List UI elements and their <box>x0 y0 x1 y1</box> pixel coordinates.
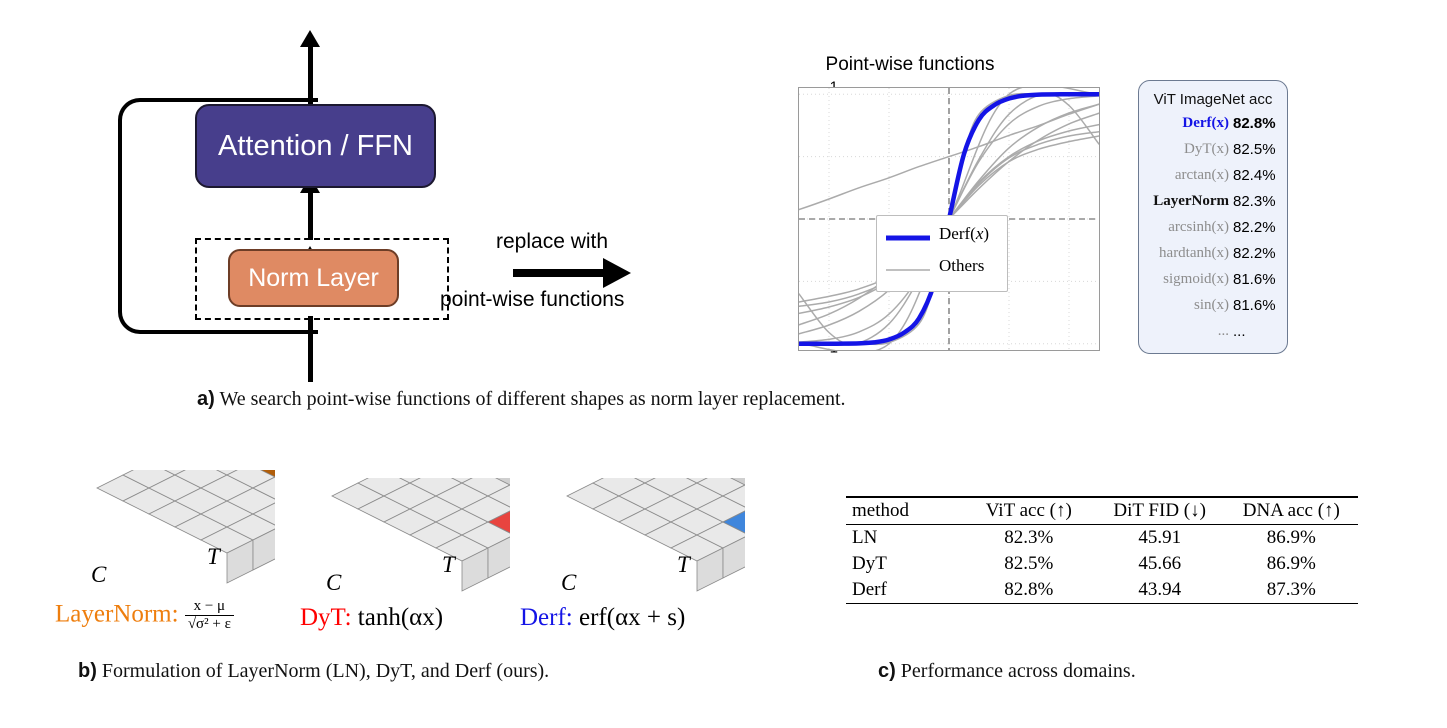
legend-label-derf: Derf(x) <box>939 224 989 244</box>
formula-dyt-body: tanh(αx) <box>358 604 443 631</box>
vit-accuracy-row-name: sin(x) <box>1145 297 1229 314</box>
vit-accuracy-row-value: 82.3% <box>1233 193 1285 210</box>
vit-accuracy-row-value: 82.5% <box>1233 141 1285 158</box>
replace-arrow-shaft <box>513 269 607 277</box>
formula-derf-name: Derf: <box>520 604 573 631</box>
vit-accuracy-row-value: 82.2% <box>1233 219 1285 236</box>
table-header-row: method ViT acc (↑) DiT FID (↓) DNA acc (… <box>846 497 1358 525</box>
table-cell-method: LN <box>846 525 963 552</box>
replace-with-top-label: replace with <box>496 230 608 254</box>
performance-table: method ViT acc (↑) DiT FID (↓) DNA acc (… <box>846 496 1358 604</box>
table-cell-dit: 43.94 <box>1095 577 1225 604</box>
formula-dyt-name: DyT: <box>300 604 352 631</box>
replace-with-bottom-label: point-wise functions <box>440 288 624 312</box>
cuboid-dyt: CT <box>280 478 510 608</box>
vit-accuracy-row: DyT(x)82.5% <box>1139 141 1287 166</box>
attention-ffn-label: Attention / FFN <box>218 130 413 163</box>
vit-accuracy-row-name: arcsinh(x) <box>1145 219 1229 236</box>
caption-b-tag: b) <box>78 660 97 682</box>
vit-accuracy-row: ...... <box>1139 323 1287 348</box>
norm-layer-block[interactable]: Norm Layer <box>228 249 399 307</box>
caption-a-tag: a) <box>197 388 215 410</box>
caption-a-text: We search point-wise functions of differ… <box>219 388 845 410</box>
formula-derf: Derf: erf(αx + s) <box>520 604 685 632</box>
pointwise-functions-plot: Point-wise functions 1 0.5 0 -0.5 -1 -2 … <box>710 54 1140 374</box>
caption-b: b) Formulation of LayerNorm (LN), DyT, a… <box>78 660 549 683</box>
table-cell-dit: 45.91 <box>1095 525 1225 552</box>
plot-legend: Derf(x) Others <box>876 215 1008 292</box>
col-header-method: method <box>846 497 963 525</box>
vit-accuracy-row-name: LayerNorm <box>1145 193 1229 210</box>
table-cell-vit: 82.5% <box>963 551 1095 577</box>
replace-arrowhead-icon <box>603 258 631 288</box>
vit-accuracy-card: ViT ImageNet acc Derf(x)82.8%DyT(x)82.5%… <box>1138 80 1288 354</box>
vit-accuracy-row-value: 81.6% <box>1233 297 1285 314</box>
output-arrow-shaft <box>308 42 313 104</box>
formula-dyt: DyT: tanh(αx) <box>300 604 443 632</box>
legend-label-others: Others <box>939 256 984 276</box>
cuboid-derf: CT <box>515 478 745 608</box>
norm-layer-label: Norm Layer <box>248 264 379 293</box>
vit-accuracy-row-name: hardtanh(x) <box>1145 245 1229 262</box>
table-cell-method: DyT <box>846 551 963 577</box>
caption-a: a) We search point-wise functions of dif… <box>197 388 846 411</box>
cuboid-diagrams: CT CT CT LayerNorm: x − μ √σ² + ε DyT: t… <box>0 460 720 690</box>
vit-accuracy-row: arctan(x)82.4% <box>1139 167 1287 192</box>
table-row: Derf82.8%43.9487.3% <box>846 577 1358 604</box>
caption-c-text: Performance across domains. <box>901 660 1136 682</box>
caption-c-tag: c) <box>878 660 896 682</box>
col-header-dit: DiT FID (↓) <box>1095 497 1225 525</box>
table-cell-dit: 45.66 <box>1095 551 1225 577</box>
cuboid-dim-label-t: T <box>207 544 220 570</box>
cuboid-layernorm: CT <box>45 470 275 600</box>
vit-accuracy-row-name: DyT(x) <box>1145 141 1229 158</box>
vit-accuracy-row-name: sigmoid(x) <box>1145 271 1229 288</box>
legend-entry-derf: Derf(x) <box>877 222 1007 252</box>
vit-accuracy-row: sin(x)81.6% <box>1139 297 1287 322</box>
replace-with-annotation: replace with point-wise functions <box>440 230 690 330</box>
table-cell-vit: 82.3% <box>963 525 1095 552</box>
vit-accuracy-card-header: ViT ImageNet acc <box>1139 91 1287 108</box>
output-arrowhead-icon <box>300 30 320 47</box>
table-cell-dna: 86.9% <box>1225 551 1358 577</box>
col-header-dna: DNA acc (↑) <box>1225 497 1358 525</box>
table-cell-vit: 82.8% <box>963 577 1095 604</box>
vit-accuracy-row-name: arctan(x) <box>1145 167 1229 184</box>
legend-swatch-derf <box>886 235 930 241</box>
mid-arrow-shaft <box>308 186 313 240</box>
formula-layernorm-name: LayerNorm: <box>55 600 179 627</box>
plot-title: Point-wise functions <box>710 54 1110 76</box>
performance-table-grid: method ViT acc (↑) DiT FID (↓) DNA acc (… <box>846 496 1358 604</box>
vit-accuracy-row-name: ... <box>1145 323 1229 340</box>
performance-table-head: method ViT acc (↑) DiT FID (↓) DNA acc (… <box>846 497 1358 525</box>
vit-accuracy-row-value: 81.6% <box>1233 271 1285 288</box>
table-row: LN82.3%45.9186.9% <box>846 525 1358 552</box>
caption-b-text: Formulation of LayerNorm (LN), DyT, and … <box>102 660 549 682</box>
cuboid-dim-label-t: T <box>442 552 455 578</box>
formula-layernorm-numerator: x − μ <box>185 598 234 615</box>
attention-ffn-block[interactable]: Attention / FFN <box>195 104 436 188</box>
vit-accuracy-row: hardtanh(x)82.2% <box>1139 245 1287 270</box>
vit-accuracy-row: LayerNorm82.3% <box>1139 193 1287 218</box>
cuboid-svg <box>280 478 510 608</box>
cuboid-svg <box>515 478 745 608</box>
table-cell-method: Derf <box>846 577 963 604</box>
vit-accuracy-row: Derf(x)82.8% <box>1139 115 1287 140</box>
legend-swatch-others <box>886 267 930 273</box>
caption-c: c) Performance across domains. <box>878 660 1136 683</box>
cuboid-dim-label-t: T <box>677 552 690 578</box>
vit-accuracy-row-value: ... <box>1233 323 1285 340</box>
vit-accuracy-row-value: 82.4% <box>1233 167 1285 184</box>
table-row: DyT82.5%45.6686.9% <box>846 551 1358 577</box>
cuboid-dim-label-c: C <box>326 570 341 596</box>
legend-entry-others: Others <box>877 254 1007 284</box>
col-header-vit: ViT acc (↑) <box>963 497 1095 525</box>
formula-layernorm: LayerNorm: x − μ √σ² + ε <box>55 598 234 634</box>
vit-accuracy-row: sigmoid(x)81.6% <box>1139 271 1287 296</box>
vit-accuracy-row: arcsinh(x)82.2% <box>1139 219 1287 244</box>
cuboid-svg <box>45 470 275 600</box>
input-arrow-shaft <box>308 316 313 382</box>
vit-accuracy-row-name: Derf(x) <box>1145 115 1229 132</box>
vit-accuracy-row-value: 82.8% <box>1233 115 1285 132</box>
formula-derf-body: erf(αx + s) <box>579 604 685 631</box>
table-cell-dna: 87.3% <box>1225 577 1358 604</box>
cuboid-dim-label-c: C <box>91 562 106 588</box>
table-cell-dna: 86.9% <box>1225 525 1358 552</box>
performance-table-body: LN82.3%45.9186.9%DyT82.5%45.6686.9%Derf8… <box>846 525 1358 604</box>
vit-accuracy-row-value: 82.2% <box>1233 245 1285 262</box>
formula-layernorm-denominator: √σ² + ε <box>185 615 234 633</box>
cuboid-dim-label-c: C <box>561 570 576 596</box>
formula-layernorm-fraction: x − μ √σ² + ε <box>185 598 234 634</box>
